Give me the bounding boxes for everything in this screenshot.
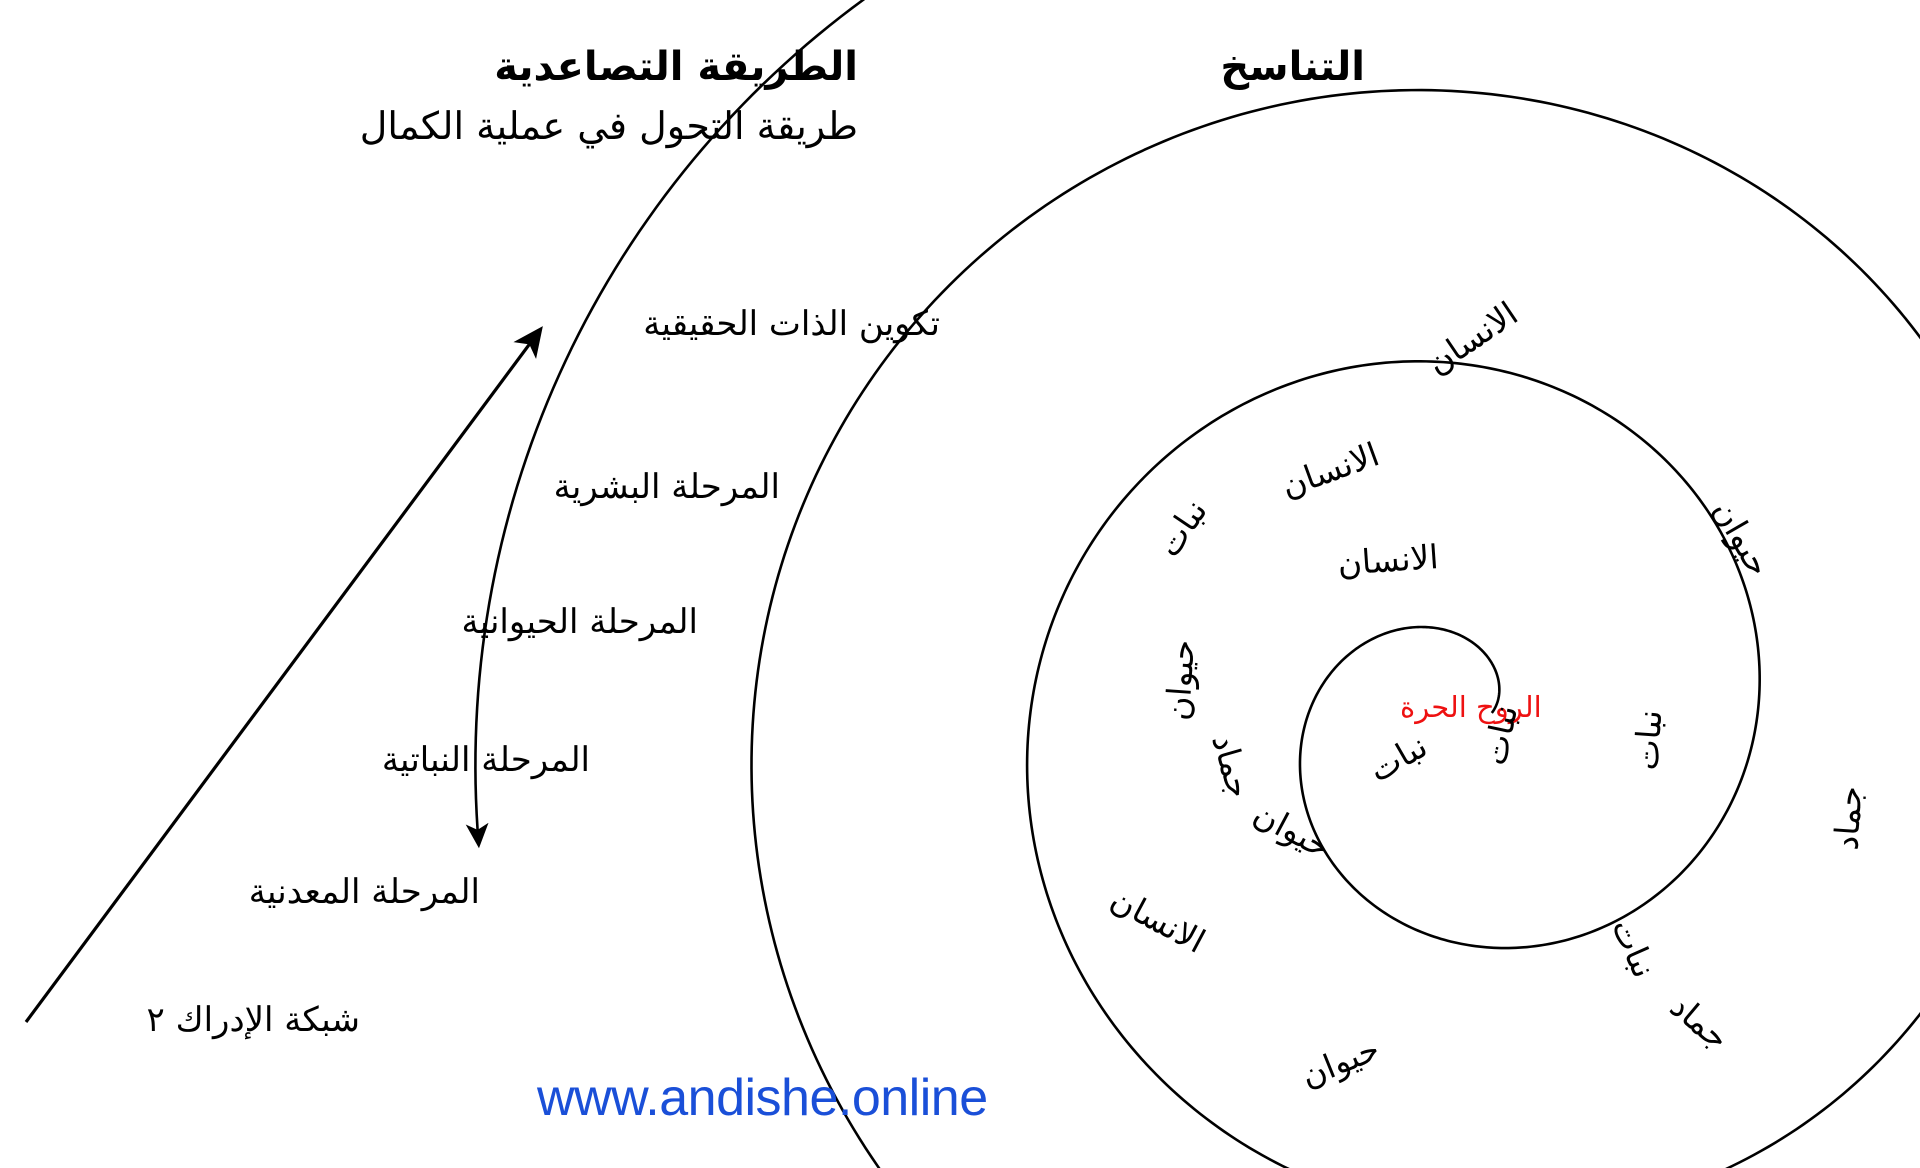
spiral-cycle-label: حيوان [1158, 638, 1203, 721]
spiral-cycle-label: نبات [1626, 709, 1669, 772]
spiral-cycle-label: جماد [1826, 785, 1869, 852]
spiral-cycle-label: الانسان [1336, 537, 1439, 583]
diagram-canvas: الطريقة التصاعدية طريقة التحول في عملية … [0, 0, 1920, 1168]
reincarnation-spiral-svg [0, 0, 1920, 1168]
reincarnation-spiral-path [475, 0, 1920, 1168]
site-url[interactable]: www.andishe.online [537, 1068, 988, 1128]
